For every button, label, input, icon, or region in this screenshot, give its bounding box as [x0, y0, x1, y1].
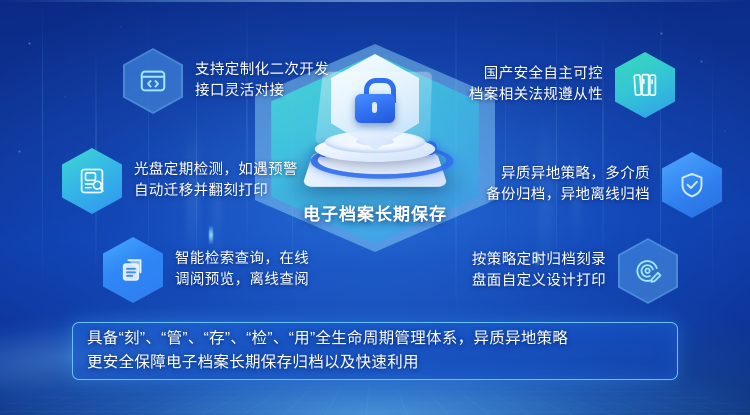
feature-right-1-line2: 档案相关法规遵从性 — [469, 85, 603, 106]
feature-right-2[interactable]: 异质异地策略，多介质 备份归档，异地离线归档 — [486, 152, 722, 218]
feature-right-1[interactable]: 国产安全自主可控 档案相关法规遵从性 — [469, 52, 675, 118]
feature-right-2-line1: 异质异地策略，多介质 — [486, 164, 650, 185]
feature-left-1-text: 支持定制化二次开发 接口灵活对接 — [195, 60, 329, 101]
feature-left-2-line2: 自动迁移并翻刻打印 — [134, 181, 298, 202]
shield-check-icon — [662, 152, 722, 218]
feature-left-3-text: 智能检索查询，在线 调阅预览，离线查阅 — [175, 249, 309, 290]
feature-left-3[interactable]: 智能检索查询，在线 调阅预览，离线查阅 — [103, 237, 309, 303]
code-window-icon — [123, 48, 183, 114]
feature-left-1-line1: 支持定制化二次开发 — [195, 60, 329, 81]
lock-keyhole — [372, 102, 377, 113]
feature-left-2[interactable]: 光盘定期检测，如遇预警 自动迁移并翻刻打印 — [62, 148, 298, 214]
disc-edit-icon — [618, 238, 678, 304]
feature-right-1-text: 国产安全自主可控 档案相关法规遵从性 — [469, 64, 603, 105]
feature-left-2-line1: 光盘定期检测，如遇预警 — [134, 160, 298, 181]
feature-right-2-line2: 备份归档，异地离线归档 — [486, 185, 650, 206]
feature-right-1-line1: 国产安全自主可控 — [469, 64, 603, 85]
feature-left-1-line2: 接口灵活对接 — [195, 81, 329, 102]
feature-right-2-text: 异质异地策略，多介质 备份归档，异地离线归档 — [486, 164, 650, 205]
feature-left-3-line1: 智能检索查询，在线 — [175, 249, 309, 270]
feature-left-3-line2: 调阅预览，离线查阅 — [175, 270, 309, 291]
document-search-icon — [62, 148, 122, 214]
feature-left-2-text: 光盘定期检测，如遇预警 自动迁移并翻刻打印 — [134, 160, 298, 201]
feature-right-3-line1: 按策略定时归档刻录 — [472, 250, 606, 271]
infographic-canvas: 电子档案长期保存 支持定制化二次开发 接口灵活对接 — [0, 0, 750, 415]
archive-cabinet-icon — [615, 52, 675, 118]
feature-right-3-line2: 盘面自定义设计打印 — [472, 271, 606, 292]
summary-banner-line1: 具备“刻”、“管”、“存”、“检”、“用”全生命周期管理体系，异质异地策略 — [87, 327, 663, 351]
feature-right-3[interactable]: 按策略定时归档刻录 盘面自定义设计打印 — [472, 238, 678, 304]
lock-icon — [354, 78, 396, 124]
summary-banner: 具备“刻”、“管”、“存”、“检”、“用”全生命周期管理体系，异质异地策略 更安… — [72, 322, 678, 380]
stacked-documents-icon — [103, 237, 163, 303]
summary-banner-line2: 更安全保障电子档案长期保存归档以及快速利用 — [87, 351, 663, 375]
feature-right-3-text: 按策略定时归档刻录 盘面自定义设计打印 — [472, 250, 606, 291]
background-perspective-grid — [0, 384, 750, 415]
feature-left-1[interactable]: 支持定制化二次开发 接口灵活对接 — [123, 48, 329, 114]
